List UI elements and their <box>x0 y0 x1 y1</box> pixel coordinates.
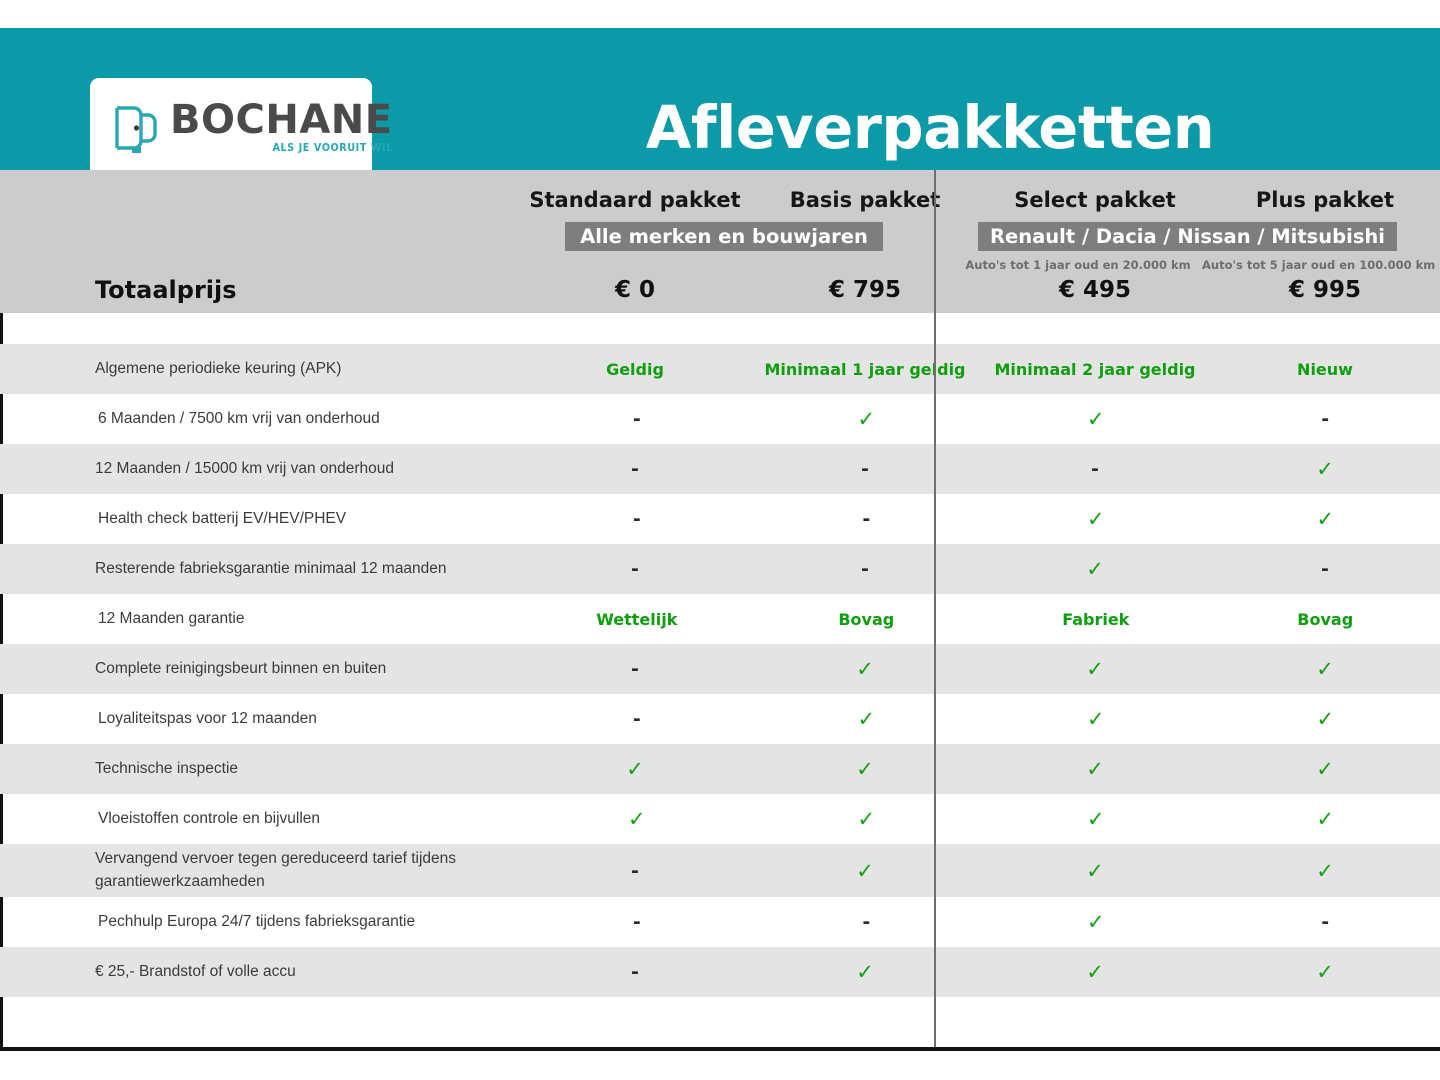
row-value-cell: - <box>520 458 750 480</box>
row-value-cell: ✓ <box>1211 507 1440 531</box>
subnote-plus: Auto's tot 5 jaar oud en 100.000 km <box>1202 258 1432 272</box>
row-value-cell: ✓ <box>752 707 981 731</box>
total-price-label: Totaalprijs <box>0 276 520 304</box>
table-row: Loyaliteitspas voor 12 maanden-✓✓✓ <box>0 694 1440 744</box>
feature-rows: Algemene periodieke keuring (APK)GeldigM… <box>0 344 1440 997</box>
row-label: Vloeistoffen controle en bijvullen <box>3 808 522 830</box>
row-value-cell: ✓ <box>1211 807 1440 831</box>
group-band-renault-dacia-nissan-mitsubishi: Renault / Dacia / Nissan / Mitsubishi <box>978 222 1397 251</box>
row-value-cell: - <box>520 961 750 983</box>
header-band: BOCHANE ALS JE VOORUIT WIL Afleverpakket… <box>0 28 1440 170</box>
bochane-logo-icon <box>112 101 162 155</box>
row-value-cell: - <box>980 458 1210 480</box>
table-row: 12 Maanden / 15000 km vrij van onderhoud… <box>0 444 1440 494</box>
row-value-cell: - <box>750 458 980 480</box>
row-value-cell: - <box>522 508 751 530</box>
row-label: Complete reinigingsbeurt binnen en buite… <box>0 658 520 680</box>
row-value-cell: ✓ <box>520 757 750 781</box>
row-value-cell: Wettelijk <box>522 610 751 629</box>
row-value-cell: ✓ <box>980 557 1210 581</box>
row-label: Health check batterij EV/HEV/PHEV <box>3 508 522 530</box>
row-label: 12 Maanden / 15000 km vrij van onderhoud <box>0 458 520 480</box>
row-value-cell: - <box>752 911 981 933</box>
group-band-row: Alle merken en bouwjaren Renault / Dacia… <box>0 222 1440 251</box>
row-value-cell: ✓ <box>750 657 980 681</box>
row-value-cell: - <box>522 911 751 933</box>
row-label: € 25,- Brandstof of volle accu <box>0 961 520 983</box>
table-row: € 25,- Brandstof of volle accu-✓✓✓ <box>0 947 1440 997</box>
row-label: 12 Maanden garantie <box>3 608 522 630</box>
price-basis: € 795 <box>750 277 980 303</box>
row-value-cell: ✓ <box>1211 707 1440 731</box>
column-title-plus: Plus pakket <box>1210 188 1440 212</box>
column-title-basis: Basis pakket <box>750 188 980 212</box>
bochane-logo: BOCHANE ALS JE VOORUIT WIL <box>90 78 372 177</box>
row-value-cell: ✓ <box>981 407 1210 431</box>
row-value-cell: ✓ <box>1210 657 1440 681</box>
row-value-cell: Minimaal 1 jaar geldig <box>750 360 980 379</box>
row-label: Resterende fabrieksgarantie minimaal 12 … <box>0 558 520 580</box>
logo-wordmark: BOCHANE <box>170 101 393 139</box>
row-value-cell: Minimaal 2 jaar geldig <box>980 360 1210 379</box>
row-value-cell: ✓ <box>1210 457 1440 481</box>
table-row: Algemene periodieke keuring (APK)GeldigM… <box>0 344 1440 394</box>
column-titles-row: Standaard pakket Basis pakket Select pak… <box>0 188 1440 212</box>
table-row: Vervangend vervoer tegen gereduceerd tar… <box>0 844 1440 897</box>
row-value-cell: ✓ <box>981 807 1210 831</box>
row-value-cell: ✓ <box>1210 757 1440 781</box>
row-value-cell: ✓ <box>980 859 1210 883</box>
table-row: Health check batterij EV/HEV/PHEV--✓✓ <box>0 494 1440 544</box>
table-row: Vloeistoffen controle en bijvullen✓✓✓✓ <box>0 794 1440 844</box>
table-row: Complete reinigingsbeurt binnen en buite… <box>0 644 1440 694</box>
row-value-cell: ✓ <box>750 960 980 984</box>
row-value-cell: Nieuw <box>1210 360 1440 379</box>
row-value-cell: ✓ <box>980 657 1210 681</box>
table-column-header: Standaard pakket Basis pakket Select pak… <box>0 170 1440 313</box>
row-label: Algemene periodieke keuring (APK) <box>0 358 520 380</box>
row-value-cell: ✓ <box>980 960 1210 984</box>
row-value-cell: - <box>752 508 981 530</box>
row-value-cell: Bovag <box>752 610 981 629</box>
row-value-cell: ✓ <box>981 707 1210 731</box>
row-value-cell: ✓ <box>981 910 1210 934</box>
row-value-cell: ✓ <box>752 807 981 831</box>
row-value-cell: - <box>750 558 980 580</box>
table-spacer-row <box>0 313 1440 344</box>
row-value-cell: - <box>1210 558 1440 580</box>
poster-page: BOCHANE ALS JE VOORUIT WIL Afleverpakket… <box>0 0 1440 1080</box>
row-value-cell: - <box>1211 911 1440 933</box>
table-row: 6 Maanden / 7500 km vrij van onderhoud-✓… <box>0 394 1440 444</box>
packages-table: Standaard pakket Basis pakket Select pak… <box>0 170 1440 1051</box>
row-value-cell: Fabriek <box>981 610 1210 629</box>
row-value-cell: - <box>1211 408 1440 430</box>
row-label: Technische inspectie <box>0 758 520 780</box>
row-label: Vervangend vervoer tegen gereduceerd tar… <box>0 848 520 893</box>
row-label: 6 Maanden / 7500 km vrij van onderhoud <box>3 408 522 430</box>
price-plus: € 995 <box>1210 277 1440 303</box>
price-select: € 495 <box>980 277 1210 303</box>
row-value-cell: - <box>522 408 751 430</box>
table-row: Technische inspectie✓✓✓✓ <box>0 744 1440 794</box>
table-tail-row <box>0 997 1440 1047</box>
table-row: Pechhulp Europa 24/7 tijdens fabrieksgar… <box>0 897 1440 947</box>
row-label: Pechhulp Europa 24/7 tijdens fabrieksgar… <box>3 911 522 933</box>
table-row: Resterende fabrieksgarantie minimaal 12 … <box>0 544 1440 594</box>
row-value-cell: - <box>520 658 750 680</box>
row-value-cell: ✓ <box>1210 859 1440 883</box>
row-value-cell: - <box>522 708 751 730</box>
row-value-cell: ✓ <box>1210 960 1440 984</box>
group-band-alle-merken: Alle merken en bouwjaren <box>565 222 883 251</box>
logo-tagline: ALS JE VOORUIT WIL <box>272 143 392 154</box>
row-value-cell: ✓ <box>752 407 981 431</box>
row-value-cell: - <box>520 558 750 580</box>
row-value-cell: ✓ <box>750 859 980 883</box>
column-title-select: Select pakket <box>980 188 1210 212</box>
column-title-spacer <box>0 188 520 212</box>
price-standaard: € 0 <box>520 277 750 303</box>
row-value-cell: Bovag <box>1211 610 1440 629</box>
row-label: Loyaliteitspas voor 12 maanden <box>3 708 522 730</box>
table-row: 12 Maanden garantieWettelijkBovagFabriek… <box>0 594 1440 644</box>
total-price-row: Totaalprijs € 0 € 795 € 495 € 995 <box>0 276 1440 304</box>
row-value-cell: Geldig <box>520 360 750 379</box>
column-title-standaard: Standaard pakket <box>520 188 750 212</box>
subnote-select: Auto's tot 1 jaar oud en 20.000 km <box>963 258 1193 272</box>
row-value-cell: ✓ <box>750 757 980 781</box>
row-value-cell: ✓ <box>522 807 751 831</box>
row-value-cell: - <box>520 860 750 882</box>
row-value-cell: ✓ <box>981 507 1210 531</box>
row-value-cell: ✓ <box>980 757 1210 781</box>
